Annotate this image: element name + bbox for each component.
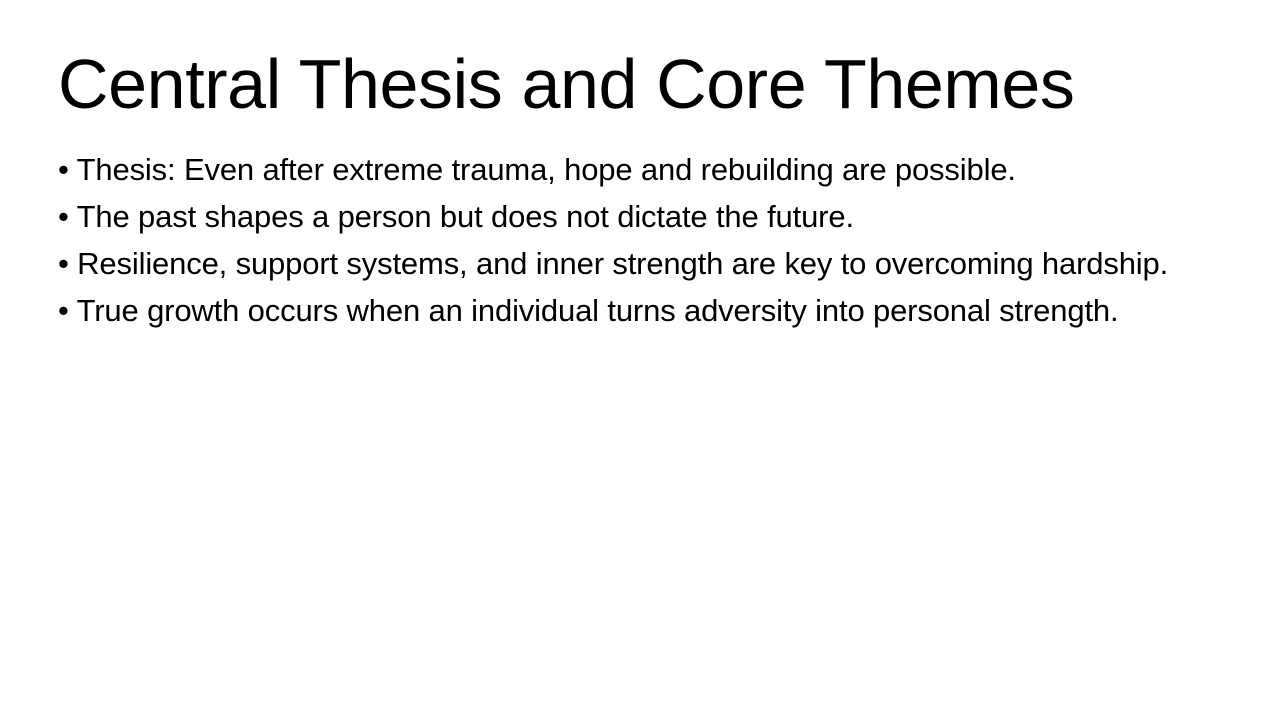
list-item-label: The past shapes a person but does not di… [77, 199, 854, 234]
list-item[interactable]: • Resilience, support systems, and inner… [58, 240, 1230, 287]
list-item[interactable]: • The past shapes a person but does not … [58, 193, 1230, 240]
list-item[interactable]: • True growth occurs when an individual … [58, 287, 1230, 334]
bullet-dot-icon: • [58, 293, 69, 328]
bullet-dot-icon: • [58, 199, 69, 234]
bullet-list: • Thesis: Even after extreme trauma, hop… [58, 146, 1230, 334]
slide-body-placeholder[interactable]: • Thesis: Even after extreme trauma, hop… [58, 146, 1230, 334]
list-item[interactable]: • Thesis: Even after extreme trauma, hop… [58, 146, 1230, 193]
list-item-label: Thesis: Even after extreme trauma, hope … [77, 152, 1016, 187]
bullet-dot-icon: • [58, 246, 69, 281]
slide-canvas: Central Thesis and Core Themes • Thesis:… [0, 0, 1280, 720]
bullet-dot-icon: • [58, 152, 69, 187]
page-title[interactable]: Central Thesis and Core Themes [58, 48, 1223, 122]
list-item-label: Resilience, support systems, and inner s… [77, 246, 1168, 281]
list-item-label: True growth occurs when an individual tu… [77, 293, 1119, 328]
